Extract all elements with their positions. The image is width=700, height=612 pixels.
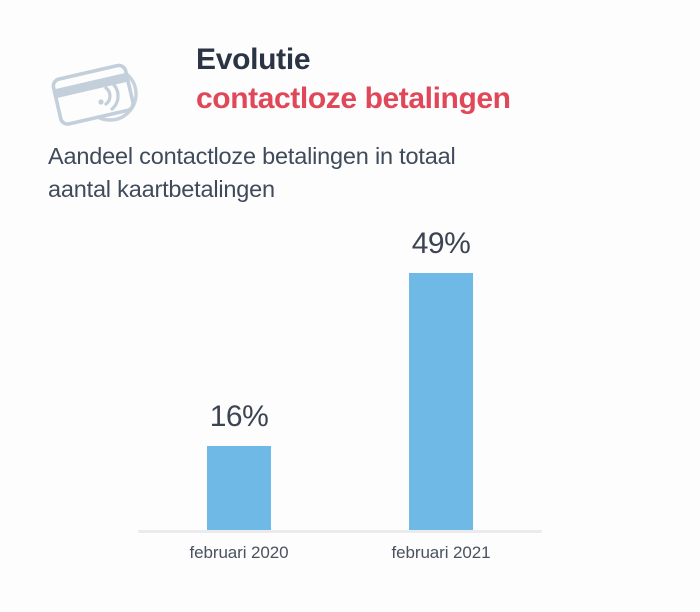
bar-value-label: 49% bbox=[412, 227, 471, 261]
subtitle: Aandeel contactloze betalingen in totaal… bbox=[48, 140, 668, 206]
bar bbox=[207, 446, 271, 530]
title-line-accent: contactloze betalingen bbox=[196, 79, 666, 118]
plot-area: 16% 49% bbox=[138, 205, 542, 530]
subtitle-line-1: Aandeel contactloze betalingen in totaal bbox=[48, 140, 668, 173]
category-label: februari 2021 bbox=[340, 543, 542, 563]
contactless-card-icon bbox=[48, 54, 144, 128]
bar bbox=[409, 273, 473, 530]
bar-value-label: 16% bbox=[210, 400, 269, 434]
header: Evolutie contactloze betalingen bbox=[0, 0, 700, 135]
subtitle-line-2: aantal kaartbetalingen bbox=[48, 173, 668, 206]
bar-chart: 16% 49% februari 2020 februari 2021 bbox=[0, 205, 700, 612]
category-label: februari 2020 bbox=[138, 543, 340, 563]
x-axis-line bbox=[138, 530, 542, 533]
title-stack: Evolutie contactloze betalingen bbox=[196, 40, 666, 118]
title-line-primary: Evolutie bbox=[196, 40, 666, 79]
bar-group: 49% bbox=[340, 205, 542, 530]
infographic-canvas: Evolutie contactloze betalingen Aandeel … bbox=[0, 0, 700, 612]
bar-group: 16% bbox=[138, 205, 340, 530]
